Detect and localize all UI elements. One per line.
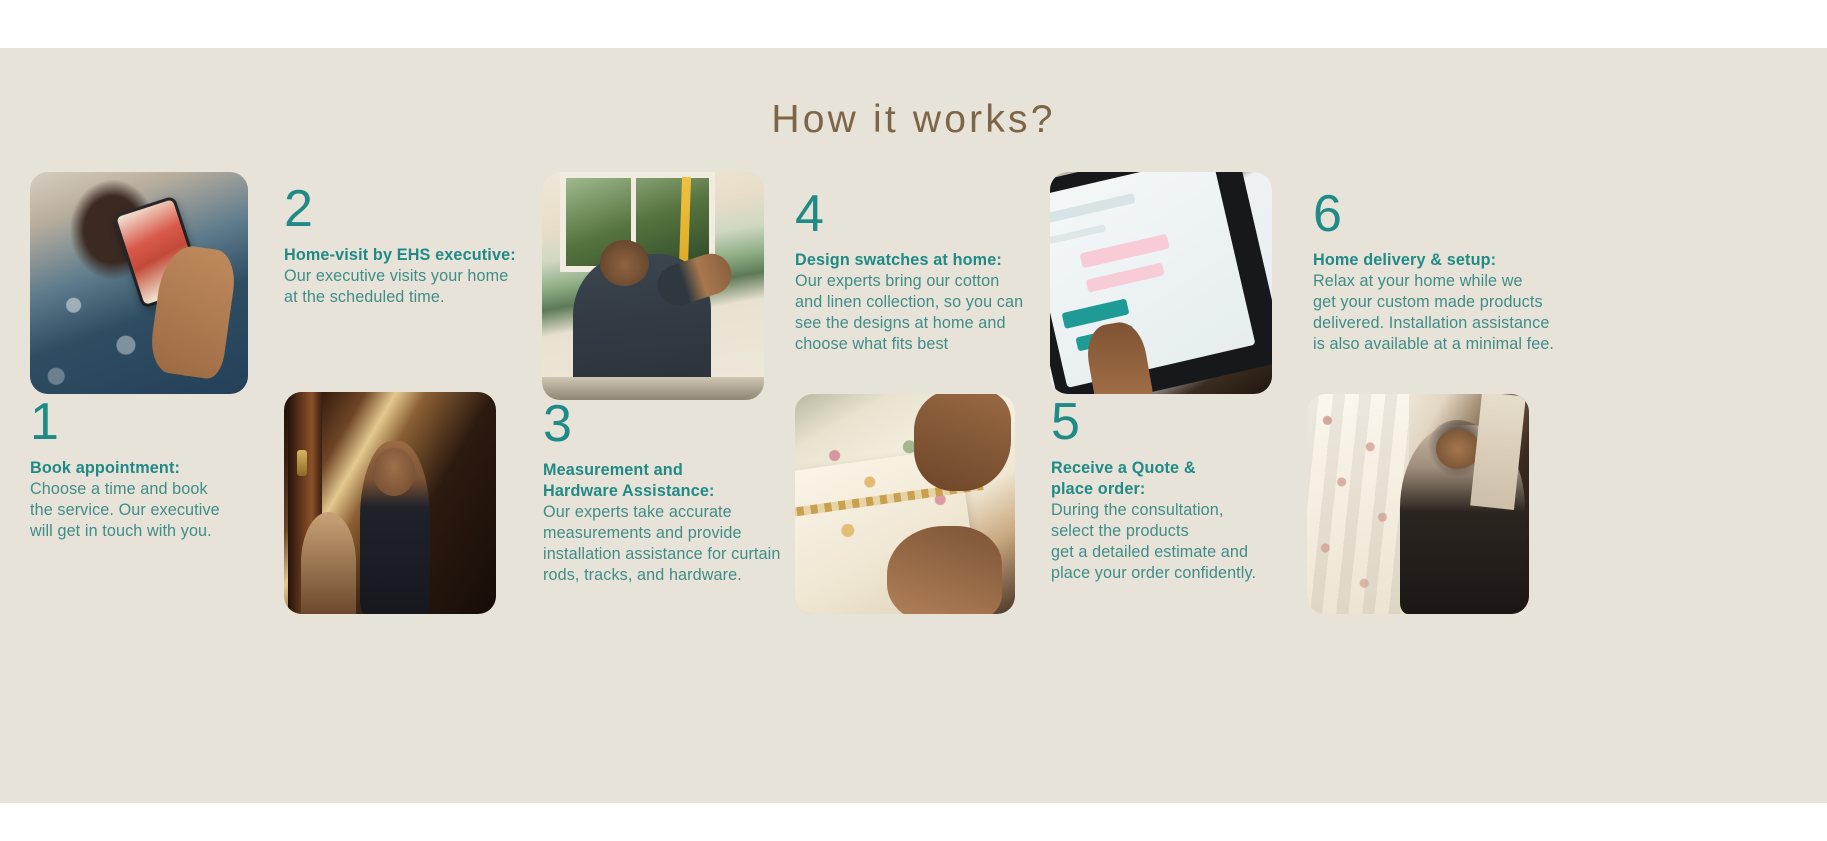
step-4-body: Our experts bring our cotton and linen c… [795, 271, 1040, 355]
step-6-body: Relax at your home while we get your cus… [1313, 271, 1563, 355]
step-4-heading: Design swatches at home: [795, 250, 1040, 271]
step-1-body: Choose a time and book the service. Our … [30, 479, 260, 542]
step-3-head-shape [600, 240, 649, 286]
step-6-heading: Home delivery & setup: [1313, 250, 1563, 271]
curtain-floral-pattern [1307, 394, 1409, 614]
bottom-white-strip [0, 803, 1827, 841]
step-4-text: 4 Design swatches at home: Our experts b… [795, 190, 1040, 355]
step-6-face-shape [1436, 429, 1480, 469]
step-5-number: 5 [1051, 398, 1306, 447]
screen-row-b [1050, 223, 1107, 244]
step-4-hand-top-shape [914, 394, 1011, 491]
step-5-image [1050, 172, 1272, 394]
step-2-heading: Home-visit by EHS executive: [284, 245, 524, 266]
door-knob-icon [297, 450, 308, 477]
step-6-text: 6 Home delivery & setup: Relax at your h… [1313, 190, 1563, 355]
step-4-hand-bottom-shape [887, 526, 1001, 614]
step-1-image [30, 172, 248, 394]
step-3-image [542, 172, 764, 400]
step-2-text: 2 Home-visit by EHS executive: Our execu… [284, 185, 524, 308]
how-it-works-section: How it works? 1 Book appointment: Choose… [0, 0, 1827, 841]
step-3-text: 3 Measurement and Hardware Assistance: O… [543, 400, 793, 586]
step-4-number: 4 [795, 190, 1040, 239]
tablet-screen-shape [1050, 172, 1256, 387]
tablet-device-shape [1050, 172, 1272, 394]
step-3-number: 3 [543, 400, 793, 449]
step-5-heading: Receive a Quote & place order: [1051, 458, 1306, 499]
step-2-number: 2 [284, 185, 524, 234]
top-white-strip [0, 0, 1827, 48]
section-title: How it works? [0, 98, 1827, 142]
screen-row-a [1050, 193, 1136, 223]
step-2-image [284, 392, 496, 614]
step-1-number: 1 [30, 398, 260, 447]
step-4-image [795, 394, 1015, 614]
step-6-number: 6 [1313, 190, 1563, 239]
step-5-text: 5 Receive a Quote & place order: During … [1051, 398, 1306, 584]
step-2-body: Our executive visits your home at the sc… [284, 266, 524, 308]
step-5-body: During the consultation, select the prod… [1051, 500, 1306, 584]
step-3-body: Our experts take accurate measurements a… [543, 502, 793, 586]
step-1-text: 1 Book appointment: Choose a time and bo… [30, 398, 260, 542]
step-1-heading: Book appointment: [30, 458, 260, 479]
step-3-heading: Measurement and Hardware Assistance: [543, 460, 793, 501]
screen-highlight-pink-2 [1086, 262, 1165, 293]
step-2-child-shape [301, 512, 356, 614]
step-6-image [1307, 394, 1529, 614]
window-sill-shape [542, 377, 764, 400]
